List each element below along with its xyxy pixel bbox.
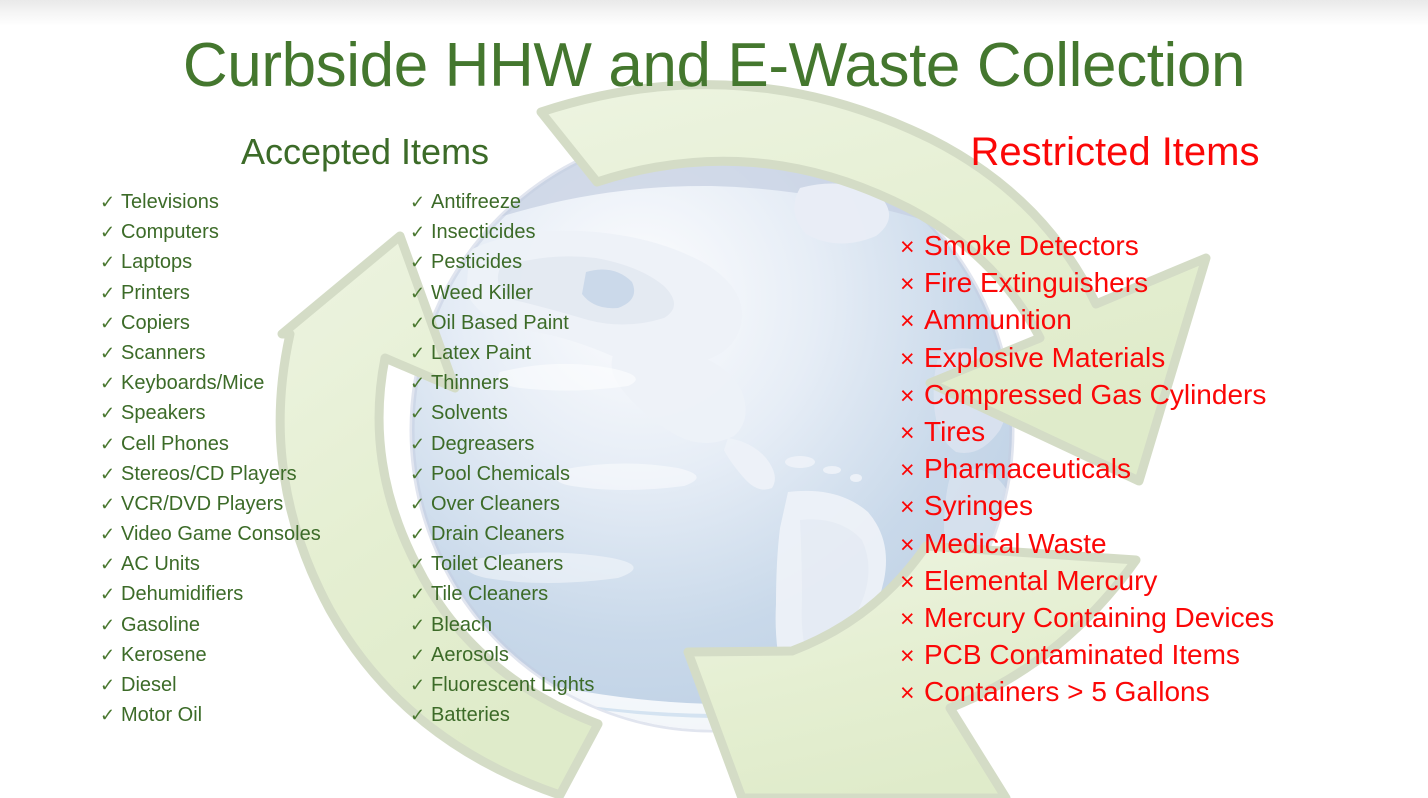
cross-icon: × bbox=[900, 272, 924, 297]
check-icon: ✓ bbox=[410, 284, 431, 302]
list-item: ✓Computers bbox=[100, 222, 410, 252]
check-icon: ✓ bbox=[100, 495, 121, 513]
list-item-label: Insecticides bbox=[431, 222, 536, 242]
list-item: ✓Televisions bbox=[100, 192, 410, 222]
list-item-label: Video Game Consoles bbox=[121, 524, 321, 544]
check-icon: ✓ bbox=[410, 555, 431, 573]
list-item: ✓Kerosene bbox=[100, 645, 410, 675]
check-icon: ✓ bbox=[410, 193, 431, 211]
list-item: ✓Fluorescent Lights bbox=[410, 675, 720, 705]
list-item: ✓Speakers bbox=[100, 403, 410, 433]
list-item: ✓Laptops bbox=[100, 252, 410, 282]
list-item-label: Oil Based Paint bbox=[431, 313, 569, 333]
check-icon: ✓ bbox=[410, 495, 431, 513]
check-icon: ✓ bbox=[410, 646, 431, 664]
check-icon: ✓ bbox=[100, 465, 121, 483]
list-item: ✓Dehumidifiers bbox=[100, 584, 410, 614]
cross-icon: × bbox=[900, 458, 924, 483]
list-item: ✓Copiers bbox=[100, 313, 410, 343]
cross-icon: × bbox=[900, 235, 924, 260]
check-icon: ✓ bbox=[100, 193, 121, 211]
list-item-label: Pharmaceuticals bbox=[924, 455, 1131, 483]
check-icon: ✓ bbox=[410, 344, 431, 362]
list-item: ×Ammunition bbox=[900, 306, 1400, 343]
list-item: ✓Degreasers bbox=[410, 434, 720, 464]
list-item: ✓Video Game Consoles bbox=[100, 524, 410, 554]
cross-icon: × bbox=[900, 384, 924, 409]
list-item-label: Aerosols bbox=[431, 645, 509, 665]
check-icon: ✓ bbox=[100, 676, 121, 694]
list-item-label: VCR/DVD Players bbox=[121, 494, 283, 514]
list-item: ✓Motor Oil bbox=[100, 705, 410, 735]
list-item: ✓Cell Phones bbox=[100, 434, 410, 464]
list-item-label: PCB Contaminated Items bbox=[924, 641, 1240, 669]
list-item-label: Weed Killer bbox=[431, 283, 533, 303]
list-item-label: Latex Paint bbox=[431, 343, 531, 363]
list-item: ✓Batteries bbox=[410, 705, 720, 735]
list-item: ✓Insecticides bbox=[410, 222, 720, 252]
list-item: ✓Toilet Cleaners bbox=[410, 554, 720, 584]
accepted-items-columns: ✓Televisions ✓Computers ✓Laptops ✓Printe… bbox=[100, 192, 720, 735]
list-item-label: Pesticides bbox=[431, 252, 522, 272]
list-item-label: Fire Extinguishers bbox=[924, 269, 1148, 297]
list-item: ×PCB Contaminated Items bbox=[900, 641, 1400, 678]
list-item: ✓VCR/DVD Players bbox=[100, 494, 410, 524]
restricted-items-list: ×Smoke Detectors ×Fire Extinguishers ×Am… bbox=[900, 232, 1400, 715]
list-item-label: Over Cleaners bbox=[431, 494, 560, 514]
check-icon: ✓ bbox=[100, 616, 121, 634]
list-item-label: Keyboards/Mice bbox=[121, 373, 264, 393]
list-item-label: Tires bbox=[924, 418, 985, 446]
cross-icon: × bbox=[900, 347, 924, 372]
list-item-label: Elemental Mercury bbox=[924, 567, 1157, 595]
list-item: ✓Tile Cleaners bbox=[410, 584, 720, 614]
list-item: ×Explosive Materials bbox=[900, 344, 1400, 381]
list-item-label: Kerosene bbox=[121, 645, 207, 665]
slide-canvas: Curbside HHW and E-Waste Collection Acce… bbox=[0, 0, 1428, 798]
list-item: ✓Oil Based Paint bbox=[410, 313, 720, 343]
accepted-items-column-2: ✓Antifreeze ✓Insecticides ✓Pesticides ✓W… bbox=[410, 192, 720, 735]
list-item-label: Syringes bbox=[924, 492, 1033, 520]
check-icon: ✓ bbox=[100, 706, 121, 724]
check-icon: ✓ bbox=[100, 404, 121, 422]
list-item: ✓Pool Chemicals bbox=[410, 464, 720, 494]
cross-icon: × bbox=[900, 309, 924, 334]
list-item: ✓Weed Killer bbox=[410, 283, 720, 313]
check-icon: ✓ bbox=[100, 374, 121, 392]
check-icon: ✓ bbox=[100, 646, 121, 664]
list-item: ✓Scanners bbox=[100, 343, 410, 373]
check-icon: ✓ bbox=[100, 525, 121, 543]
list-item-label: Solvents bbox=[431, 403, 508, 423]
list-item-label: Printers bbox=[121, 283, 190, 303]
check-icon: ✓ bbox=[410, 404, 431, 422]
list-item-label: Pool Chemicals bbox=[431, 464, 570, 484]
list-item: ×Compressed Gas Cylinders bbox=[900, 381, 1400, 418]
list-item-label: Drain Cleaners bbox=[431, 524, 564, 544]
list-item: ×Syringes bbox=[900, 492, 1400, 529]
list-item-label: Computers bbox=[121, 222, 219, 242]
cross-icon: × bbox=[900, 681, 924, 706]
list-item: ✓Drain Cleaners bbox=[410, 524, 720, 554]
list-item: ×Medical Waste bbox=[900, 530, 1400, 567]
list-item-label: Explosive Materials bbox=[924, 344, 1165, 372]
list-item: ✓Aerosols bbox=[410, 645, 720, 675]
list-item-label: Degreasers bbox=[431, 434, 534, 454]
list-item: ×Tires bbox=[900, 418, 1400, 455]
cross-icon: × bbox=[900, 570, 924, 595]
check-icon: ✓ bbox=[100, 253, 121, 271]
list-item-label: Fluorescent Lights bbox=[431, 675, 594, 695]
cross-icon: × bbox=[900, 495, 924, 520]
list-item-label: Containers > 5 Gallons bbox=[924, 678, 1210, 706]
list-item-label: Smoke Detectors bbox=[924, 232, 1139, 260]
list-item-label: Antifreeze bbox=[431, 192, 521, 212]
list-item-label: Copiers bbox=[121, 313, 190, 333]
list-item-label: Cell Phones bbox=[121, 434, 229, 454]
accepted-items-heading: Accepted Items bbox=[95, 130, 635, 174]
cross-icon: × bbox=[900, 533, 924, 558]
list-item-label: Motor Oil bbox=[121, 705, 202, 725]
check-icon: ✓ bbox=[100, 435, 121, 453]
restricted-items-heading: Restricted Items bbox=[880, 128, 1350, 176]
check-icon: ✓ bbox=[100, 344, 121, 362]
list-item-label: Thinners bbox=[431, 373, 509, 393]
check-icon: ✓ bbox=[410, 465, 431, 483]
check-icon: ✓ bbox=[410, 676, 431, 694]
list-item: ✓Gasoline bbox=[100, 615, 410, 645]
list-item: ✓AC Units bbox=[100, 554, 410, 584]
check-icon: ✓ bbox=[100, 585, 121, 603]
list-item-label: Laptops bbox=[121, 252, 192, 272]
check-icon: ✓ bbox=[410, 374, 431, 392]
top-gradient-band bbox=[0, 0, 1428, 26]
list-item-label: Medical Waste bbox=[924, 530, 1107, 558]
list-item-label: Scanners bbox=[121, 343, 206, 363]
list-item: ×Elemental Mercury bbox=[900, 567, 1400, 604]
accepted-items-column-1: ✓Televisions ✓Computers ✓Laptops ✓Printe… bbox=[100, 192, 410, 735]
list-item-label: Diesel bbox=[121, 675, 177, 695]
check-icon: ✓ bbox=[410, 223, 431, 241]
list-item-label: Bleach bbox=[431, 615, 492, 635]
cross-icon: × bbox=[900, 421, 924, 446]
list-item: ×Pharmaceuticals bbox=[900, 455, 1400, 492]
list-item: ✓Stereos/CD Players bbox=[100, 464, 410, 494]
list-item: ×Mercury Containing Devices bbox=[900, 604, 1400, 641]
list-item: ✓Pesticides bbox=[410, 252, 720, 282]
list-item: ✓Antifreeze bbox=[410, 192, 720, 222]
list-item-label: Televisions bbox=[121, 192, 219, 212]
list-item: ✓Solvents bbox=[410, 403, 720, 433]
list-item-label: Toilet Cleaners bbox=[431, 554, 563, 574]
check-icon: ✓ bbox=[410, 253, 431, 271]
check-icon: ✓ bbox=[410, 435, 431, 453]
list-item: ✓Diesel bbox=[100, 675, 410, 705]
check-icon: ✓ bbox=[410, 525, 431, 543]
list-item-label: Stereos/CD Players bbox=[121, 464, 297, 484]
list-item-label: Ammunition bbox=[924, 306, 1072, 334]
list-item-label: Compressed Gas Cylinders bbox=[924, 381, 1266, 409]
cross-icon: × bbox=[900, 644, 924, 669]
check-icon: ✓ bbox=[100, 555, 121, 573]
list-item: ✓Thinners bbox=[410, 373, 720, 403]
page-title: Curbside HHW and E-Waste Collection bbox=[0, 30, 1428, 102]
list-item: ✓Over Cleaners bbox=[410, 494, 720, 524]
list-item-label: Batteries bbox=[431, 705, 510, 725]
check-icon: ✓ bbox=[100, 314, 121, 332]
list-item-label: AC Units bbox=[121, 554, 200, 574]
check-icon: ✓ bbox=[410, 616, 431, 634]
list-item-label: Tile Cleaners bbox=[431, 584, 548, 604]
list-item: ✓Latex Paint bbox=[410, 343, 720, 373]
list-item-label: Dehumidifiers bbox=[121, 584, 243, 604]
list-item: ✓Bleach bbox=[410, 615, 720, 645]
check-icon: ✓ bbox=[410, 585, 431, 603]
list-item-label: Gasoline bbox=[121, 615, 200, 635]
list-item: ×Fire Extinguishers bbox=[900, 269, 1400, 306]
list-item: ✓Printers bbox=[100, 283, 410, 313]
list-item: ×Smoke Detectors bbox=[900, 232, 1400, 269]
check-icon: ✓ bbox=[410, 314, 431, 332]
list-item-label: Mercury Containing Devices bbox=[924, 604, 1274, 632]
cross-icon: × bbox=[900, 607, 924, 632]
check-icon: ✓ bbox=[100, 223, 121, 241]
list-item-label: Speakers bbox=[121, 403, 206, 423]
check-icon: ✓ bbox=[410, 706, 431, 724]
list-item: ×Containers > 5 Gallons bbox=[900, 678, 1400, 715]
list-item: ✓Keyboards/Mice bbox=[100, 373, 410, 403]
check-icon: ✓ bbox=[100, 284, 121, 302]
